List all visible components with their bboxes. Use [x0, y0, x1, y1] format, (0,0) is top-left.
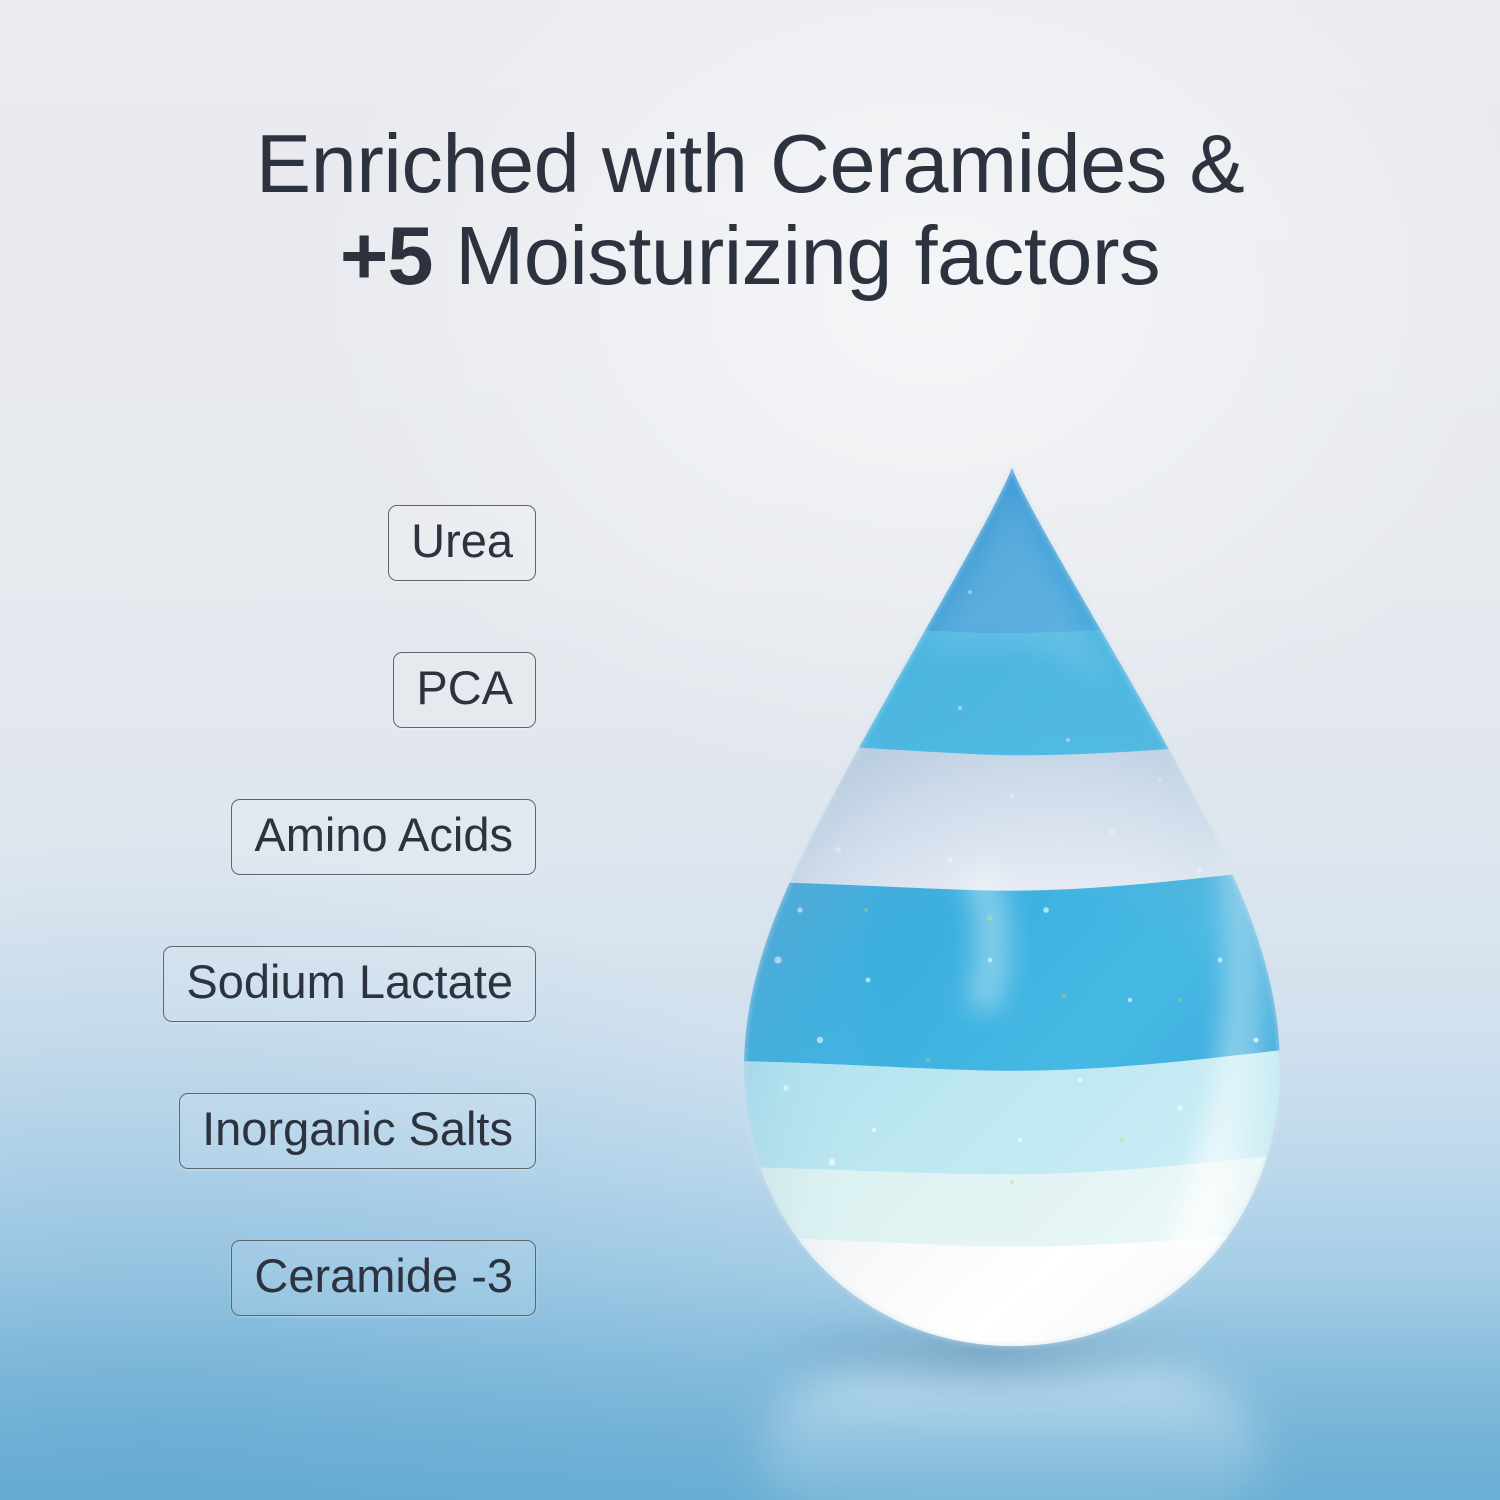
ingredient-chip-list: Urea PCA Amino Acids Sodium Lactate Inor… [0, 505, 536, 1316]
headline-emphasis-plus5: +5 [340, 209, 433, 302]
ingredient-chip-label: Inorganic Salts [202, 1102, 513, 1155]
headline-line-2-rest: Moisturizing factors [433, 209, 1161, 302]
ingredient-chip-label: Ceramide -3 [254, 1249, 513, 1302]
droplet-body [640, 420, 1420, 1420]
water-droplet-image [660, 440, 1390, 1390]
water-droplet-icon [660, 440, 1390, 1390]
ingredient-chip-inorganic-salts: Inorganic Salts [179, 1093, 536, 1169]
ingredient-chip-ceramide-3: Ceramide -3 [231, 1240, 536, 1316]
ingredient-chip-label: Urea [411, 514, 513, 567]
ingredient-chip-label: PCA [416, 661, 513, 714]
ingredient-chip-label: Amino Acids [254, 808, 513, 861]
ingredient-chip-sodium-lactate: Sodium Lactate [163, 946, 536, 1022]
headline-line-1: Enriched with Ceramides & [0, 118, 1500, 210]
ingredient-chip-label: Sodium Lactate [186, 955, 513, 1008]
product-infographic: Enriched with Ceramides & +5 Moisturizin… [0, 0, 1500, 1500]
ingredient-chip-urea: Urea [388, 505, 536, 581]
ingredient-chip-pca: PCA [393, 652, 536, 728]
headline: Enriched with Ceramides & +5 Moisturizin… [0, 118, 1500, 302]
ingredient-chip-amino-acids: Amino Acids [231, 799, 536, 875]
headline-line-2: +5 Moisturizing factors [0, 210, 1500, 302]
